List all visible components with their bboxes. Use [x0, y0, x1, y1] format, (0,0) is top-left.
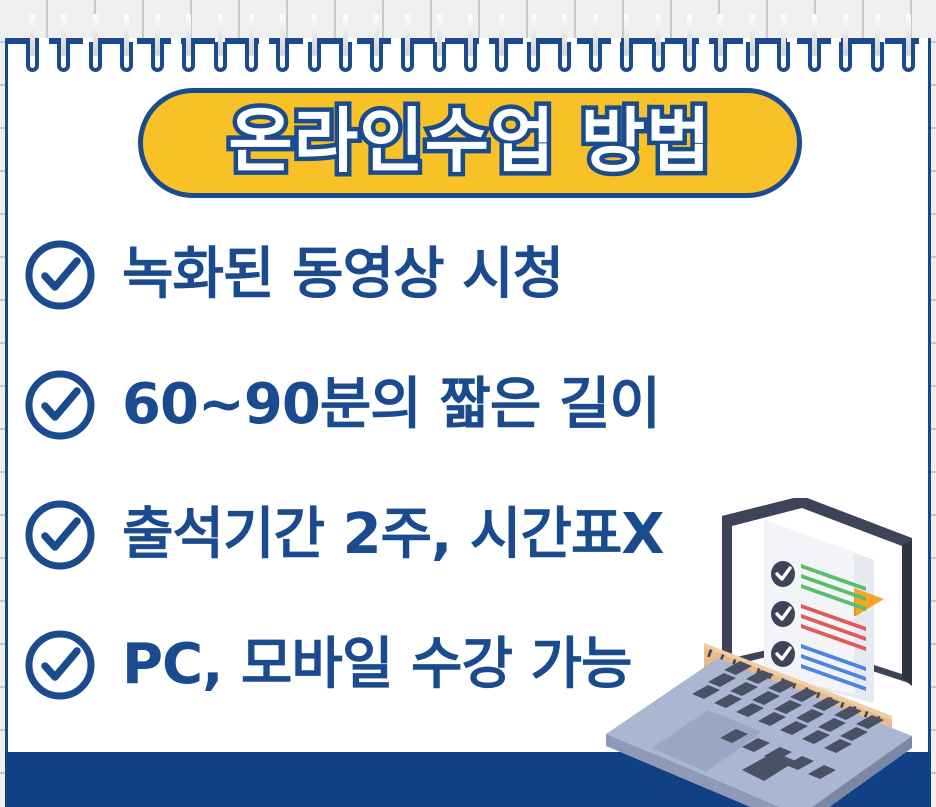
check-circle-icon [22, 367, 98, 443]
laptop-illustration [596, 498, 936, 807]
list-item-label: PC, 모바일 수강 가능 [122, 637, 632, 693]
list-item-label: 녹화된 동영상 시청 [122, 247, 563, 303]
check-circle-icon [22, 627, 98, 703]
check-circle-icon [22, 497, 98, 573]
check-circle-icon [22, 237, 98, 313]
list-item-label: 출석기간 2주, 시간표X [122, 507, 664, 563]
poster-canvas: 온라인수업 방법 녹화된 동영상 시청60~90분의 짧은 길이출석기간 2주,… [0, 0, 936, 807]
title-pill: 온라인수업 방법 [138, 88, 802, 198]
page-title: 온라인수업 방법 [228, 106, 711, 176]
page-top-trim [5, 38, 931, 44]
list-item: 녹화된 동영상 시청 [22, 228, 782, 322]
list-item-label: 60~90분의 짧은 길이 [122, 377, 660, 433]
list-item: 60~90분의 짧은 길이 [22, 358, 782, 452]
